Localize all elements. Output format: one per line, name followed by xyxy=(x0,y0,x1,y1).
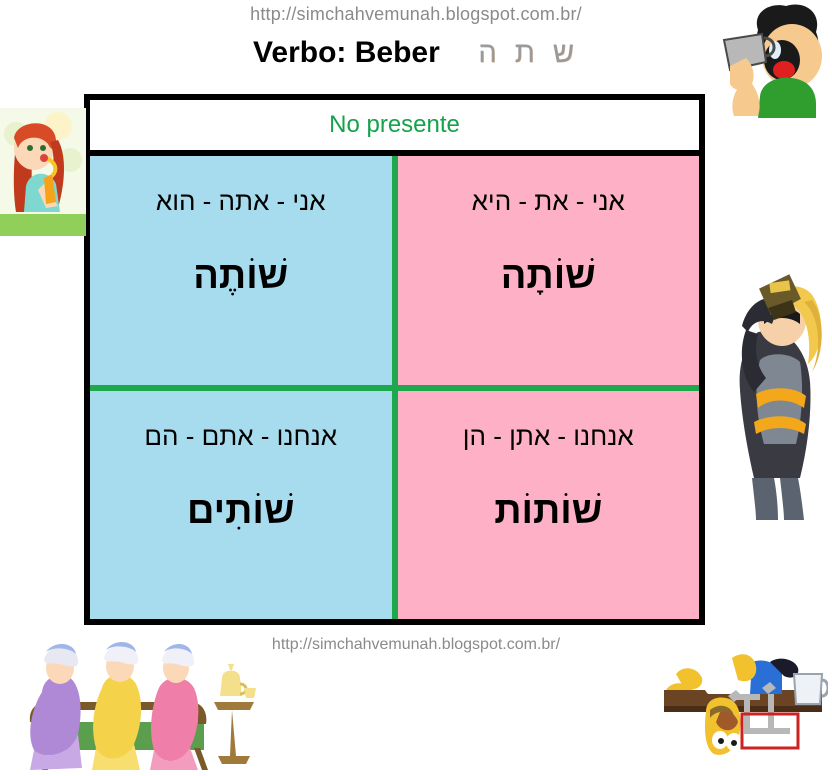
cell-masculine-singular: אני - אתה - הוא שׁוֹתֶה xyxy=(90,156,395,388)
tense-label: No presente xyxy=(329,111,460,139)
pronouns-masculine-plural: אנחנו - אתם - הם xyxy=(144,421,337,452)
cell-feminine-plural: אנחנו - אתן - הן שׁוֹתוֹת xyxy=(395,388,700,620)
boy-drinking-mug-image xyxy=(700,0,832,118)
page-title: Verbo: Beber xyxy=(253,36,440,69)
superheroine-drinking-bottle-image xyxy=(708,268,832,520)
verb-masculine-plural: שׁוֹתִים xyxy=(187,490,294,533)
pronouns-feminine-plural: אנחנו - אתן - הן xyxy=(463,421,634,452)
verb-masculine-singular: שׁוֹתֶה xyxy=(193,255,288,298)
table-header: No presente xyxy=(90,100,699,156)
cell-masculine-plural: אנחנו - אתם - הם שׁוֹתִים xyxy=(90,388,395,620)
pronouns-masculine-singular: אני - אתה - הוא xyxy=(156,186,326,217)
girl-drinking-juice-image xyxy=(0,108,86,236)
verb-feminine-plural: שׁוֹתוֹת xyxy=(494,490,602,533)
conjugation-table: No presente אני - אתה - הוא שׁוֹתֶה אני … xyxy=(84,94,705,625)
simpsons-beer-tap-image xyxy=(658,638,828,766)
verb-feminine-singular: שׁוֹתָה xyxy=(501,255,596,298)
conjugation-grid: אני - אתה - הוא שׁוֹתֶה אני - את - היא ש… xyxy=(90,156,699,619)
verb-conjugation-poster: http://simchahvemunah.blogspot.com.br/ V… xyxy=(0,0,832,776)
cell-feminine-singular: אני - את - היא שׁוֹתָה xyxy=(395,156,700,388)
hebrew-root-letters: ש ת ה xyxy=(478,37,579,70)
victorian-ladies-tea-image xyxy=(8,630,258,776)
pronouns-feminine-singular: אני - את - היא xyxy=(472,186,625,217)
